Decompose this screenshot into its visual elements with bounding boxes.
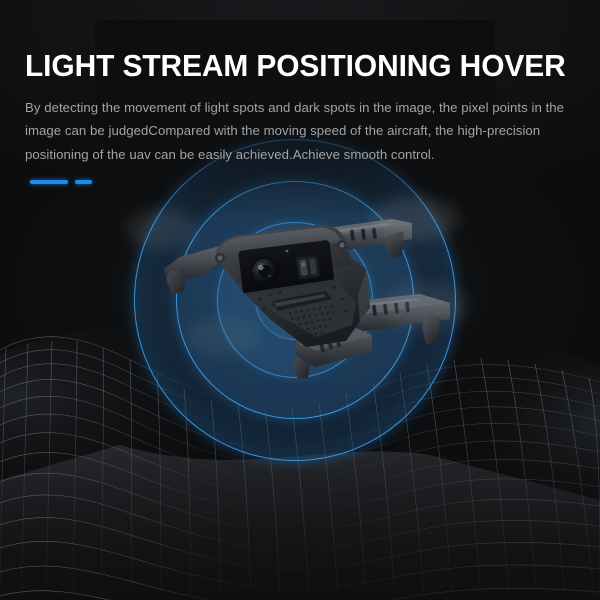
accent-dashes	[30, 180, 92, 184]
propeller-blur-front-right	[372, 197, 458, 241]
propeller-blur-front-left	[126, 209, 196, 249]
drone-product-image	[120, 195, 480, 380]
propeller-blur-rear-left	[186, 317, 260, 357]
propeller-blur-rear-right	[382, 283, 468, 329]
body-paragraph: By detecting the movement of light spots…	[25, 96, 578, 166]
accent-dash-long	[30, 180, 68, 184]
accent-dash-short	[75, 180, 92, 184]
page-title: LIGHT STREAM POSITIONING HOVER	[25, 49, 566, 83]
product-banner: LIGHT STREAM POSITIONING HOVER By detect…	[0, 0, 600, 600]
